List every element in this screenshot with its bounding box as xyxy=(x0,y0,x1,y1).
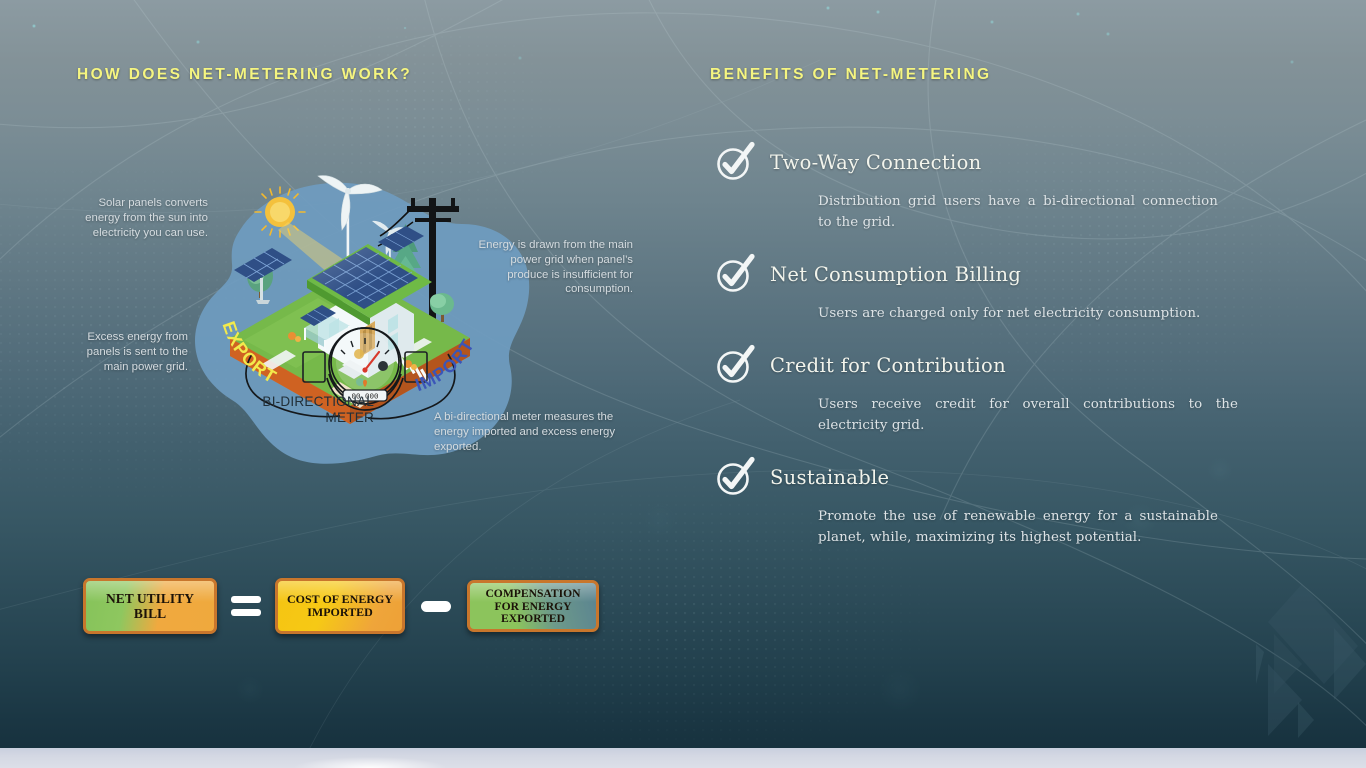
left-section-heading-wrap: HOW DOES NET-METERING WORK? xyxy=(77,66,412,84)
formula-box-label: NET UTILITY BILL xyxy=(86,591,214,621)
check-circle-icon xyxy=(714,344,756,386)
benefit-item-credit-for-contribution: Credit for Contribution Users receive cr… xyxy=(714,343,1274,436)
benefit-title: Net Consumption Billing xyxy=(770,263,1021,286)
benefit-header: Net Consumption Billing xyxy=(714,252,1274,296)
equals-bar-top xyxy=(231,596,261,603)
export-label: EXPORT xyxy=(219,319,281,388)
annotation-energy-drawn: Energy is drawn from the main power grid… xyxy=(478,238,633,297)
benefit-description: Distribution grid users have a bi-direct… xyxy=(818,191,1218,233)
left-section-heading: HOW DOES NET-METERING WORK? xyxy=(77,66,412,84)
formula-box-compensation-for-energy-exported: COMPENSATION FOR ENERGY EXPORTED xyxy=(467,580,599,632)
benefit-description: Users are charged only for net electrici… xyxy=(818,303,1214,324)
benefit-item-sustainable: Sustainable Promote the use of renewable… xyxy=(714,455,1274,548)
formula-operator-equals xyxy=(217,596,275,616)
benefit-item-two-way-connection: Two-Way Connection Distribution grid use… xyxy=(714,140,1274,233)
right-section-heading-wrap: BENEFITS OF NET-METERING xyxy=(710,66,992,84)
annotation-solar-panels: Solar panels converts energy from the su… xyxy=(78,196,208,240)
check-circle-icon xyxy=(714,456,756,498)
svg-text:IMPORT: IMPORT xyxy=(412,335,478,395)
benefits-list: Two-Way Connection Distribution grid use… xyxy=(714,140,1274,567)
formula-box-cost-of-energy-imported: COST OF ENERGY IMPORTED xyxy=(275,578,405,634)
benefit-item-net-consumption-billing: Net Consumption Billing Users are charge… xyxy=(714,252,1274,324)
benefit-title: Credit for Contribution xyxy=(770,354,1006,377)
bottom-strip xyxy=(0,748,1366,768)
formula-operator-minus xyxy=(405,601,467,612)
check-circle-icon xyxy=(714,253,756,295)
benefit-title: Sustainable xyxy=(770,466,889,489)
svg-text:EXPORT: EXPORT xyxy=(219,319,281,388)
equals-bar-bottom xyxy=(231,609,261,616)
minus-bar xyxy=(421,601,451,612)
formula-box-net-utility-bill: NET UTILITY BILL xyxy=(83,578,217,634)
annotation-excess-energy: Excess energy from panels is sent to the… xyxy=(70,330,188,374)
formula-box-label: COMPENSATION FOR ENERGY EXPORTED xyxy=(470,587,596,626)
check-circle-icon xyxy=(714,141,756,183)
solar-panel-standalone xyxy=(234,248,292,304)
benefit-header: Two-Way Connection xyxy=(714,140,1274,184)
benefit-description: Promote the use of renewable energy for … xyxy=(818,506,1218,548)
benefit-description: Users receive credit for overall contrib… xyxy=(818,394,1238,436)
benefit-title: Two-Way Connection xyxy=(770,151,981,174)
annotation-meter-description: A bi-directional meter measures the ener… xyxy=(434,410,630,454)
benefit-header: Sustainable xyxy=(714,455,1274,499)
slide-canvas: HOW DOES NET-METERING WORK? BENEFITS OF … xyxy=(0,0,1366,768)
right-section-heading: BENEFITS OF NET-METERING xyxy=(710,66,992,84)
meter-label: BI-DIRECTIONAL METER xyxy=(250,394,374,425)
net-metering-formula: NET UTILITY BILL COST OF ENERGY IMPORTED… xyxy=(83,578,599,634)
import-label: IMPORT xyxy=(412,335,478,395)
benefit-header: Credit for Contribution xyxy=(714,343,1274,387)
formula-box-label: COST OF ENERGY IMPORTED xyxy=(278,593,402,620)
decorative-chevrons xyxy=(1206,568,1366,768)
